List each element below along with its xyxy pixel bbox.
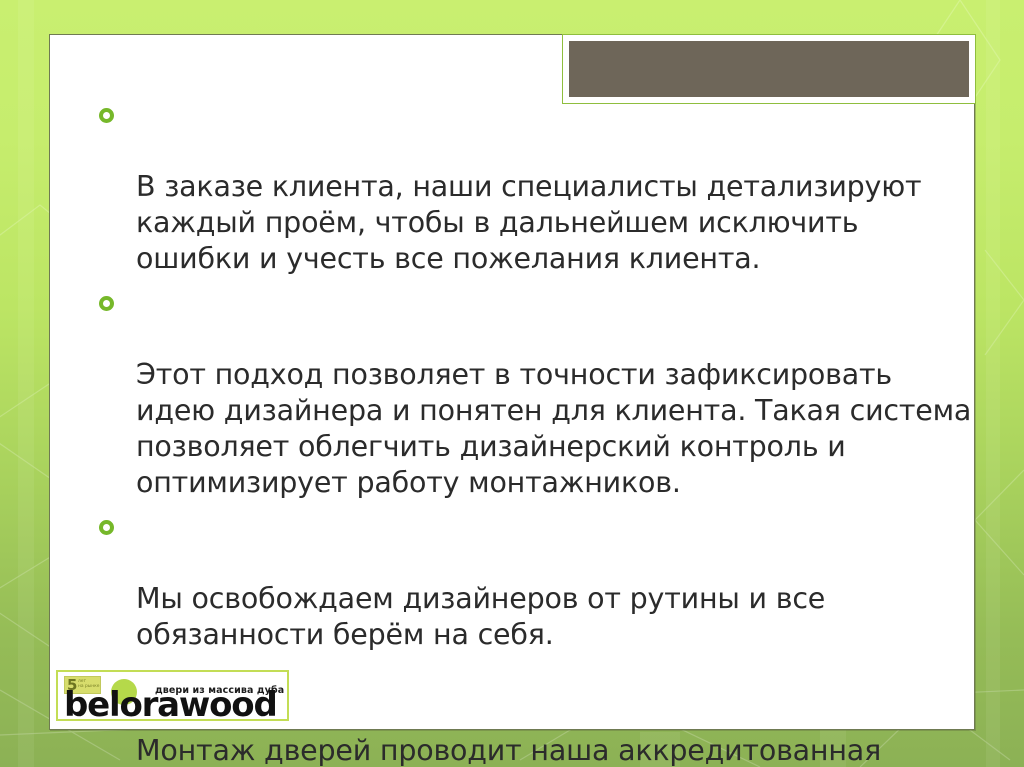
list-item: Мы освобождаем дизайнеров от рутины и вс…	[93, 509, 973, 653]
title-placeholder-fill	[569, 41, 969, 97]
presentation-slide: В заказе клиента, наши специалисты детал…	[0, 0, 1024, 767]
list-item: Этот подход позволяет в точности зафикси…	[93, 285, 973, 501]
bullet-list: В заказе клиента, наши специалисты детал…	[93, 97, 973, 767]
list-item-text: Этот подход позволяет в точности зафикси…	[136, 358, 971, 499]
list-item-text: Мы освобождаем дизайнеров от рутины и вс…	[136, 582, 825, 651]
list-item-text: В заказе клиента, наши специалисты детал…	[136, 170, 921, 275]
bullet-ring-icon	[99, 108, 114, 123]
bullet-ring-icon	[99, 520, 114, 535]
list-item-text: Монтаж дверей проводит наша аккредитован…	[136, 734, 899, 767]
bullet-ring-icon	[99, 296, 114, 311]
title-placeholder[interactable]	[562, 34, 976, 104]
slide-content-panel: В заказе клиента, наши специалисты детал…	[49, 34, 975, 730]
list-item: В заказе клиента, наши специалисты детал…	[93, 97, 973, 277]
belorawood-logo: 5 лет на рынке двери из массива дуба bel…	[56, 670, 289, 721]
logo-wordmark: belorawood	[64, 688, 277, 721]
